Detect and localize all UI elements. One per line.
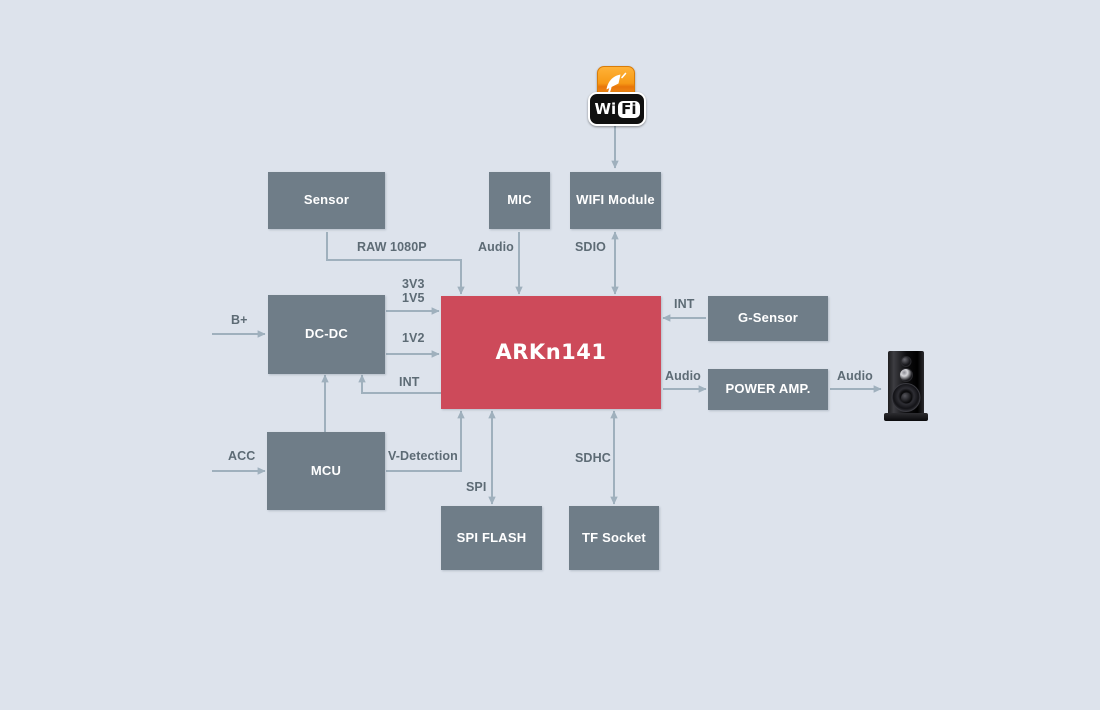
wifi-badge-text: WiFi <box>594 100 639 118</box>
block-g-sensor[interactable]: G-Sensor <box>708 296 828 341</box>
speaker-woofer <box>892 383 921 412</box>
label-rail-1v2: 1V2 <box>402 331 425 345</box>
speaker-midrange <box>899 368 913 382</box>
label-rail-3v3: 3V3 <box>402 277 425 291</box>
speaker-woofer-dome <box>901 392 912 403</box>
wifi-antenna-icon: WiFi <box>588 66 642 128</box>
block-sensor[interactable]: Sensor <box>268 172 385 229</box>
label-spi: SPI <box>466 480 486 494</box>
label-audio-amp-in: Audio <box>665 369 701 383</box>
block-diagram-canvas: WiFi Sensor MIC WIFI Module DC-DC MCU AR… <box>0 0 1100 710</box>
label-audio-mic: Audio <box>478 240 514 254</box>
label-sdhc: SDHC <box>575 451 611 465</box>
label-audio-amp-out: Audio <box>837 369 873 383</box>
block-wifi-module[interactable]: WIFI Module <box>570 172 661 229</box>
block-tf-socket[interactable]: TF Socket <box>569 506 659 570</box>
loudspeaker-icon <box>884 351 928 423</box>
label-int-gsensor: INT <box>674 297 694 311</box>
label-raw-1080p: RAW 1080P <box>357 240 427 254</box>
label-sdio: SDIO <box>575 240 606 254</box>
label-int-dcdc: INT <box>399 375 419 389</box>
block-soc-arkn141[interactable]: ARKn141 <box>441 296 661 409</box>
block-mcu[interactable]: MCU <box>267 432 385 510</box>
wifi-word-badge: WiFi <box>588 92 646 126</box>
block-mic[interactable]: MIC <box>489 172 550 229</box>
label-v-detection: V-Detection <box>388 449 458 463</box>
label-rail-1v5: 1V5 <box>402 291 425 305</box>
block-power-amp[interactable]: POWER AMP. <box>708 369 828 410</box>
block-spi-flash[interactable]: SPI FLASH <box>441 506 542 570</box>
speaker-base <box>884 413 928 421</box>
wifi-badge-fi: Fi <box>618 101 639 118</box>
block-dc-dc[interactable]: DC-DC <box>268 295 385 374</box>
wifi-badge-wi: Wi <box>594 100 616 118</box>
label-acc: ACC <box>228 449 255 463</box>
speaker-cabinet <box>888 351 924 415</box>
label-b-plus: B+ <box>231 313 248 327</box>
speaker-tweeter <box>901 356 912 367</box>
